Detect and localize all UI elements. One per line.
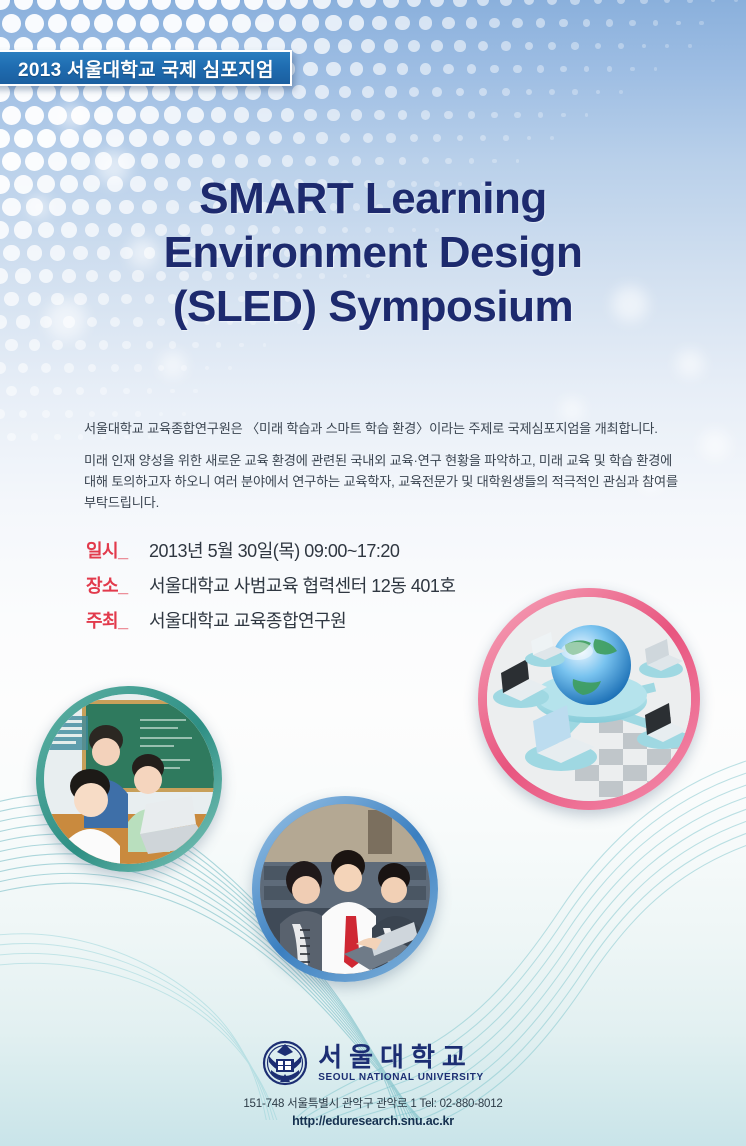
footer-address: 151-748 서울특별시 관악구 관악로 1 Tel: 02-880-8012: [0, 1095, 746, 1111]
page-title: SMART Learning Environment Design (SLED)…: [0, 172, 746, 334]
banner-label: 2013 서울대학교 국제 심포지엄: [18, 55, 274, 82]
detail-row-datetime: 일시_ 2013년 5월 30일(목) 09:00~17:20: [86, 537, 606, 563]
detail-value-host: 서울대학교 교육종합연구원: [149, 607, 346, 633]
detail-label-datetime: 일시_: [86, 537, 138, 563]
snu-logo-korean: 서울대학교: [318, 1043, 484, 1071]
title-line-1: SMART Learning: [0, 172, 746, 226]
detail-label-host: 주최_: [86, 607, 138, 633]
intro-paragraph-2: 미래 인재 양성을 위한 새로운 교육 환경에 관련된 국내외 교육·연구 현황…: [84, 450, 680, 513]
poster: 2013 서울대학교 국제 심포지엄 SMART Learning Enviro…: [0, 0, 746, 1146]
snu-logo-text: 서울대학교 SEOUL NATIONAL UNIVERSITY: [318, 1043, 484, 1084]
bokeh-circle: [700, 430, 730, 460]
photo-circle-classroom: [36, 686, 222, 872]
title-line-2: Environment Design: [0, 226, 746, 280]
intro-paragraph-1: 서울대학교 교육종합연구원은 〈미래 학습과 스마트 학습 환경〉이라는 주제로…: [84, 418, 680, 439]
event-series-banner: 2013 서울대학교 국제 심포지엄: [0, 50, 292, 86]
photo-classroom-students-laptop: [44, 694, 214, 864]
photo-university-students-laptop: [260, 804, 430, 974]
detail-row-venue: 장소_ 서울대학교 사범교육 협력센터 12동 401호: [86, 572, 606, 598]
bokeh-circle: [160, 352, 186, 378]
bokeh-circle: [58, 104, 84, 130]
snu-crest-icon: [262, 1040, 308, 1086]
snu-logo: 서울대학교 SEOUL NATIONAL UNIVERSITY: [0, 1040, 746, 1086]
photo-circle-students: [252, 796, 438, 982]
snu-logo-english: SEOUL NATIONAL UNIVERSITY: [318, 1071, 484, 1084]
title-line-3: (SLED) Symposium: [0, 280, 746, 334]
detail-label-venue: 장소_: [86, 572, 138, 598]
footer: 서울대학교 SEOUL NATIONAL UNIVERSITY 151-748 …: [0, 1040, 746, 1128]
photo-globe-network-devices: [487, 597, 691, 801]
footer-url[interactable]: http://eduresearch.snu.ac.kr: [0, 1114, 746, 1128]
bokeh-circle: [676, 350, 704, 378]
detail-value-venue: 서울대학교 사범교육 협력센터 12동 401호: [149, 572, 455, 598]
photo-circle-globe-network: [478, 588, 700, 810]
intro-text: 서울대학교 교육종합연구원은 〈미래 학습과 스마트 학습 환경〉이라는 주제로…: [84, 418, 680, 513]
detail-value-datetime: 2013년 5월 30일(목) 09:00~17:20: [149, 537, 399, 563]
